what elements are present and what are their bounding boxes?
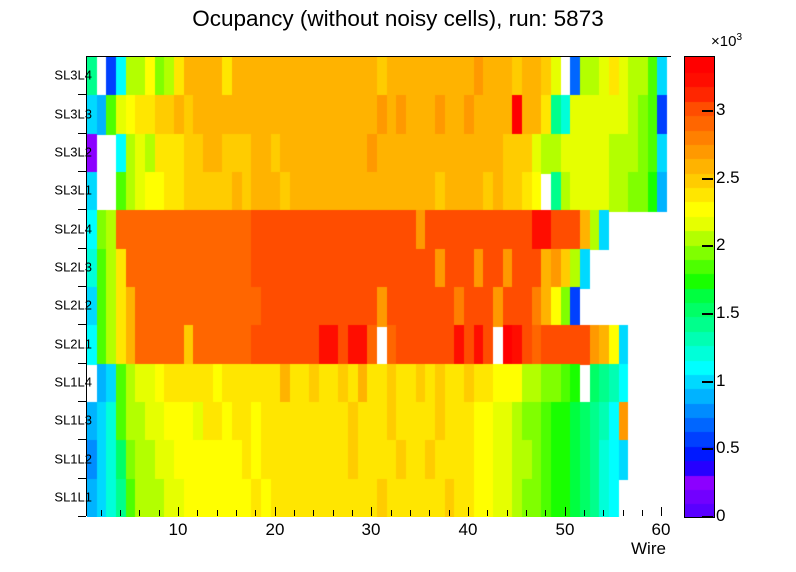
y-axis-tick (78, 94, 86, 95)
x-axis-minor-tick (333, 510, 334, 516)
y-axis-label-sl1l2: SL1L2 (54, 451, 92, 466)
y-axis-label-sl2l1: SL2L1 (54, 336, 92, 351)
colorbar-tick-label-2: 2 (716, 235, 725, 255)
y-axis-tick (78, 516, 86, 517)
x-axis-title: Wire (631, 539, 666, 559)
x-axis-tick-label-20: 20 (266, 520, 285, 540)
y-axis-label-sl2l3: SL2L3 (54, 259, 92, 274)
y-axis-tick (78, 286, 86, 287)
x-axis-tick-label-10: 10 (169, 520, 188, 540)
y-axis-label-sl1l3: SL1L3 (54, 413, 92, 428)
colorbar-tick-label-0p5: 0.5 (716, 438, 740, 458)
y-axis-label-sl3l3: SL3L3 (54, 106, 92, 121)
x-axis-major-tick (565, 507, 566, 516)
y-axis-tick (78, 133, 86, 134)
x-axis-minor-tick (507, 510, 508, 516)
colorbar-tick (702, 245, 713, 247)
y-axis-tick (78, 171, 86, 172)
x-axis-minor-tick (217, 510, 218, 516)
y-axis-tick (78, 439, 86, 440)
x-axis-minor-tick (313, 510, 314, 516)
x-axis-minor-tick (449, 510, 450, 516)
x-axis-minor-tick (101, 510, 102, 516)
chart-root: Ocupancy (without noisy cells), run: 587… (0, 0, 796, 572)
y-axis-tick (78, 324, 86, 325)
x-axis-minor-tick (642, 510, 643, 516)
x-axis-minor-tick (429, 510, 430, 516)
y-axis-label-sl3l4: SL3L4 (54, 68, 92, 83)
x-axis-minor-tick (294, 510, 295, 516)
x-axis-minor-tick (391, 510, 392, 516)
x-axis-minor-tick (584, 510, 585, 516)
x-axis-minor-tick (352, 510, 353, 516)
colorbar-exponent: ×103 (711, 32, 742, 50)
heatmap-plot-area[interactable] (86, 56, 671, 516)
colorbar-tick-label-2p5: 2.5 (716, 168, 740, 188)
x-axis-minor-tick (197, 510, 198, 516)
y-axis-label-sl3l1: SL3L1 (54, 183, 92, 198)
x-axis-tick-label-50: 50 (556, 520, 575, 540)
x-axis-tick-label-30: 30 (362, 520, 381, 540)
colorbar-tick-label-0: 0 (716, 506, 725, 526)
x-axis-minor-tick (236, 510, 237, 516)
y-axis-tick (78, 401, 86, 402)
y-axis-tick (78, 363, 86, 364)
y-axis-tick (78, 478, 86, 479)
colorbar-tick-label-3: 3 (716, 100, 725, 120)
x-axis-minor-tick (120, 510, 121, 516)
y-axis-tick (78, 248, 86, 249)
x-axis-minor-tick (526, 510, 527, 516)
x-axis-minor-tick (159, 510, 160, 516)
x-axis-minor-tick (410, 510, 411, 516)
heatmap-canvas (87, 57, 672, 517)
colorbar-tick (702, 516, 713, 518)
colorbar-tick-label-1p5: 1.5 (716, 303, 740, 323)
x-axis-tick-label-60: 60 (652, 520, 671, 540)
x-axis-minor-tick (255, 510, 256, 516)
y-axis-label-sl3l2: SL3L2 (54, 144, 92, 159)
x-axis-minor-tick (603, 510, 604, 516)
colorbar-tick (702, 110, 713, 112)
colorbar-tick (702, 178, 713, 180)
x-axis-minor-tick (487, 510, 488, 516)
colorbar-tick-label-1: 1 (716, 371, 725, 391)
x-axis-major-tick (178, 507, 179, 516)
colorbar-tick (702, 381, 713, 383)
y-axis-label-sl2l4: SL2L4 (54, 221, 92, 236)
chart-title: Ocupancy (without noisy cells), run: 587… (0, 6, 796, 32)
y-axis-label-sl1l1: SL1L1 (54, 489, 92, 504)
x-axis-major-tick (275, 507, 276, 516)
x-axis-minor-tick (545, 510, 546, 516)
y-axis-label-sl2l2: SL2L2 (54, 298, 92, 313)
x-axis-tick-label-40: 40 (459, 520, 478, 540)
x-axis-minor-tick (623, 510, 624, 516)
x-axis-major-tick (661, 507, 662, 516)
colorbar-tick (702, 313, 713, 315)
x-axis-major-tick (468, 507, 469, 516)
x-axis-major-tick (371, 507, 372, 516)
y-axis-tick (78, 209, 86, 210)
x-axis-minor-tick (139, 510, 140, 516)
y-axis-label-sl1l4: SL1L4 (54, 374, 92, 389)
colorbar-tick (702, 448, 713, 450)
